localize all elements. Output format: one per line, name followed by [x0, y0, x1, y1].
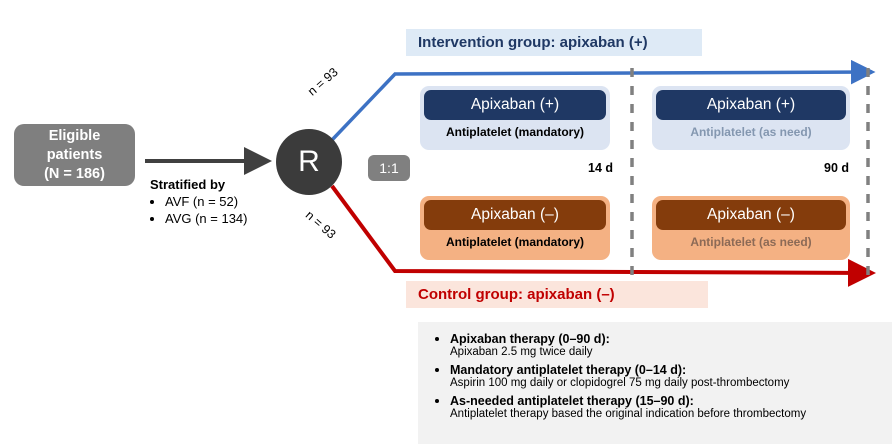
therapy-title-1: Apixaban therapy (0–90 d): [450, 332, 882, 346]
eligible-line-1: Eligible [49, 127, 101, 146]
therapy-title-2: Mandatory antiplatelet therapy (0–14 d): [450, 363, 882, 377]
eligible-patients-box: Eligible patients (N = 186) [14, 124, 135, 186]
list-item: As-needed antiplatelet therapy (15–90 d)… [450, 392, 882, 420]
control-drug-label-1: Apixaban (–) [424, 200, 606, 230]
eligible-line-3: (N = 186) [44, 165, 105, 184]
list-item: AVF (n = 52) [165, 193, 330, 210]
therapy-desc-1: Apixaban 2.5 mg twice daily [450, 346, 882, 358]
timeline-label-14d: 14 d [588, 161, 613, 175]
therapy-legend-panel: Apixaban therapy (0–90 d): Apixaban 2.5 … [418, 322, 892, 444]
control-card-period-2: Apixaban (–) Antiplatelet (as need) [652, 196, 850, 260]
control-group-header: Control group: apixaban (–) [406, 281, 708, 308]
therapy-title-3: As-needed antiplatelet therapy (15–90 d)… [450, 394, 882, 408]
list-item: Mandatory antiplatelet therapy (0–14 d):… [450, 361, 882, 389]
intervention-group-header: Intervention group: apixaban (+) [406, 29, 702, 56]
stratified-list: AVF (n = 52) AVG (n = 134) [150, 193, 330, 227]
intervention-antiplatelet-label-2: Antiplatelet (as need) [656, 120, 846, 144]
intervention-card-period-2: Apixaban (+) Antiplatelet (as need) [652, 86, 850, 150]
randomization-label: R [298, 145, 320, 179]
allocation-ratio-badge: 1:1 [368, 155, 410, 181]
control-antiplatelet-label-2: Antiplatelet (as need) [656, 230, 846, 254]
intervention-card-period-1: Apixaban (+) Antiplatelet (mandatory) [420, 86, 610, 150]
allocation-ratio-label: 1:1 [379, 160, 398, 176]
list-item: Apixaban therapy (0–90 d): Apixaban 2.5 … [450, 330, 882, 358]
control-drug-label-2: Apixaban (–) [656, 200, 846, 230]
control-card-period-1: Apixaban (–) Antiplatelet (mandatory) [420, 196, 610, 260]
randomization-node: R [276, 129, 342, 195]
therapy-legend-list: Apixaban therapy (0–90 d): Apixaban 2.5 … [428, 330, 882, 420]
intervention-drug-label-2: Apixaban (+) [656, 90, 846, 120]
intervention-drug-label-1: Apixaban (+) [424, 90, 606, 120]
branch-label-intervention-n: n = 93 [305, 65, 341, 99]
control-antiplatelet-label-1: Antiplatelet (mandatory) [424, 230, 606, 254]
therapy-desc-2: Aspirin 100 mg daily or clopidogrel 75 m… [450, 377, 882, 389]
eligible-line-2: patients [47, 146, 103, 165]
therapy-desc-3: Antiplatelet therapy based the original … [450, 408, 882, 420]
timeline-label-90d: 90 d [824, 161, 849, 175]
intervention-antiplatelet-label-1: Antiplatelet (mandatory) [424, 120, 606, 144]
